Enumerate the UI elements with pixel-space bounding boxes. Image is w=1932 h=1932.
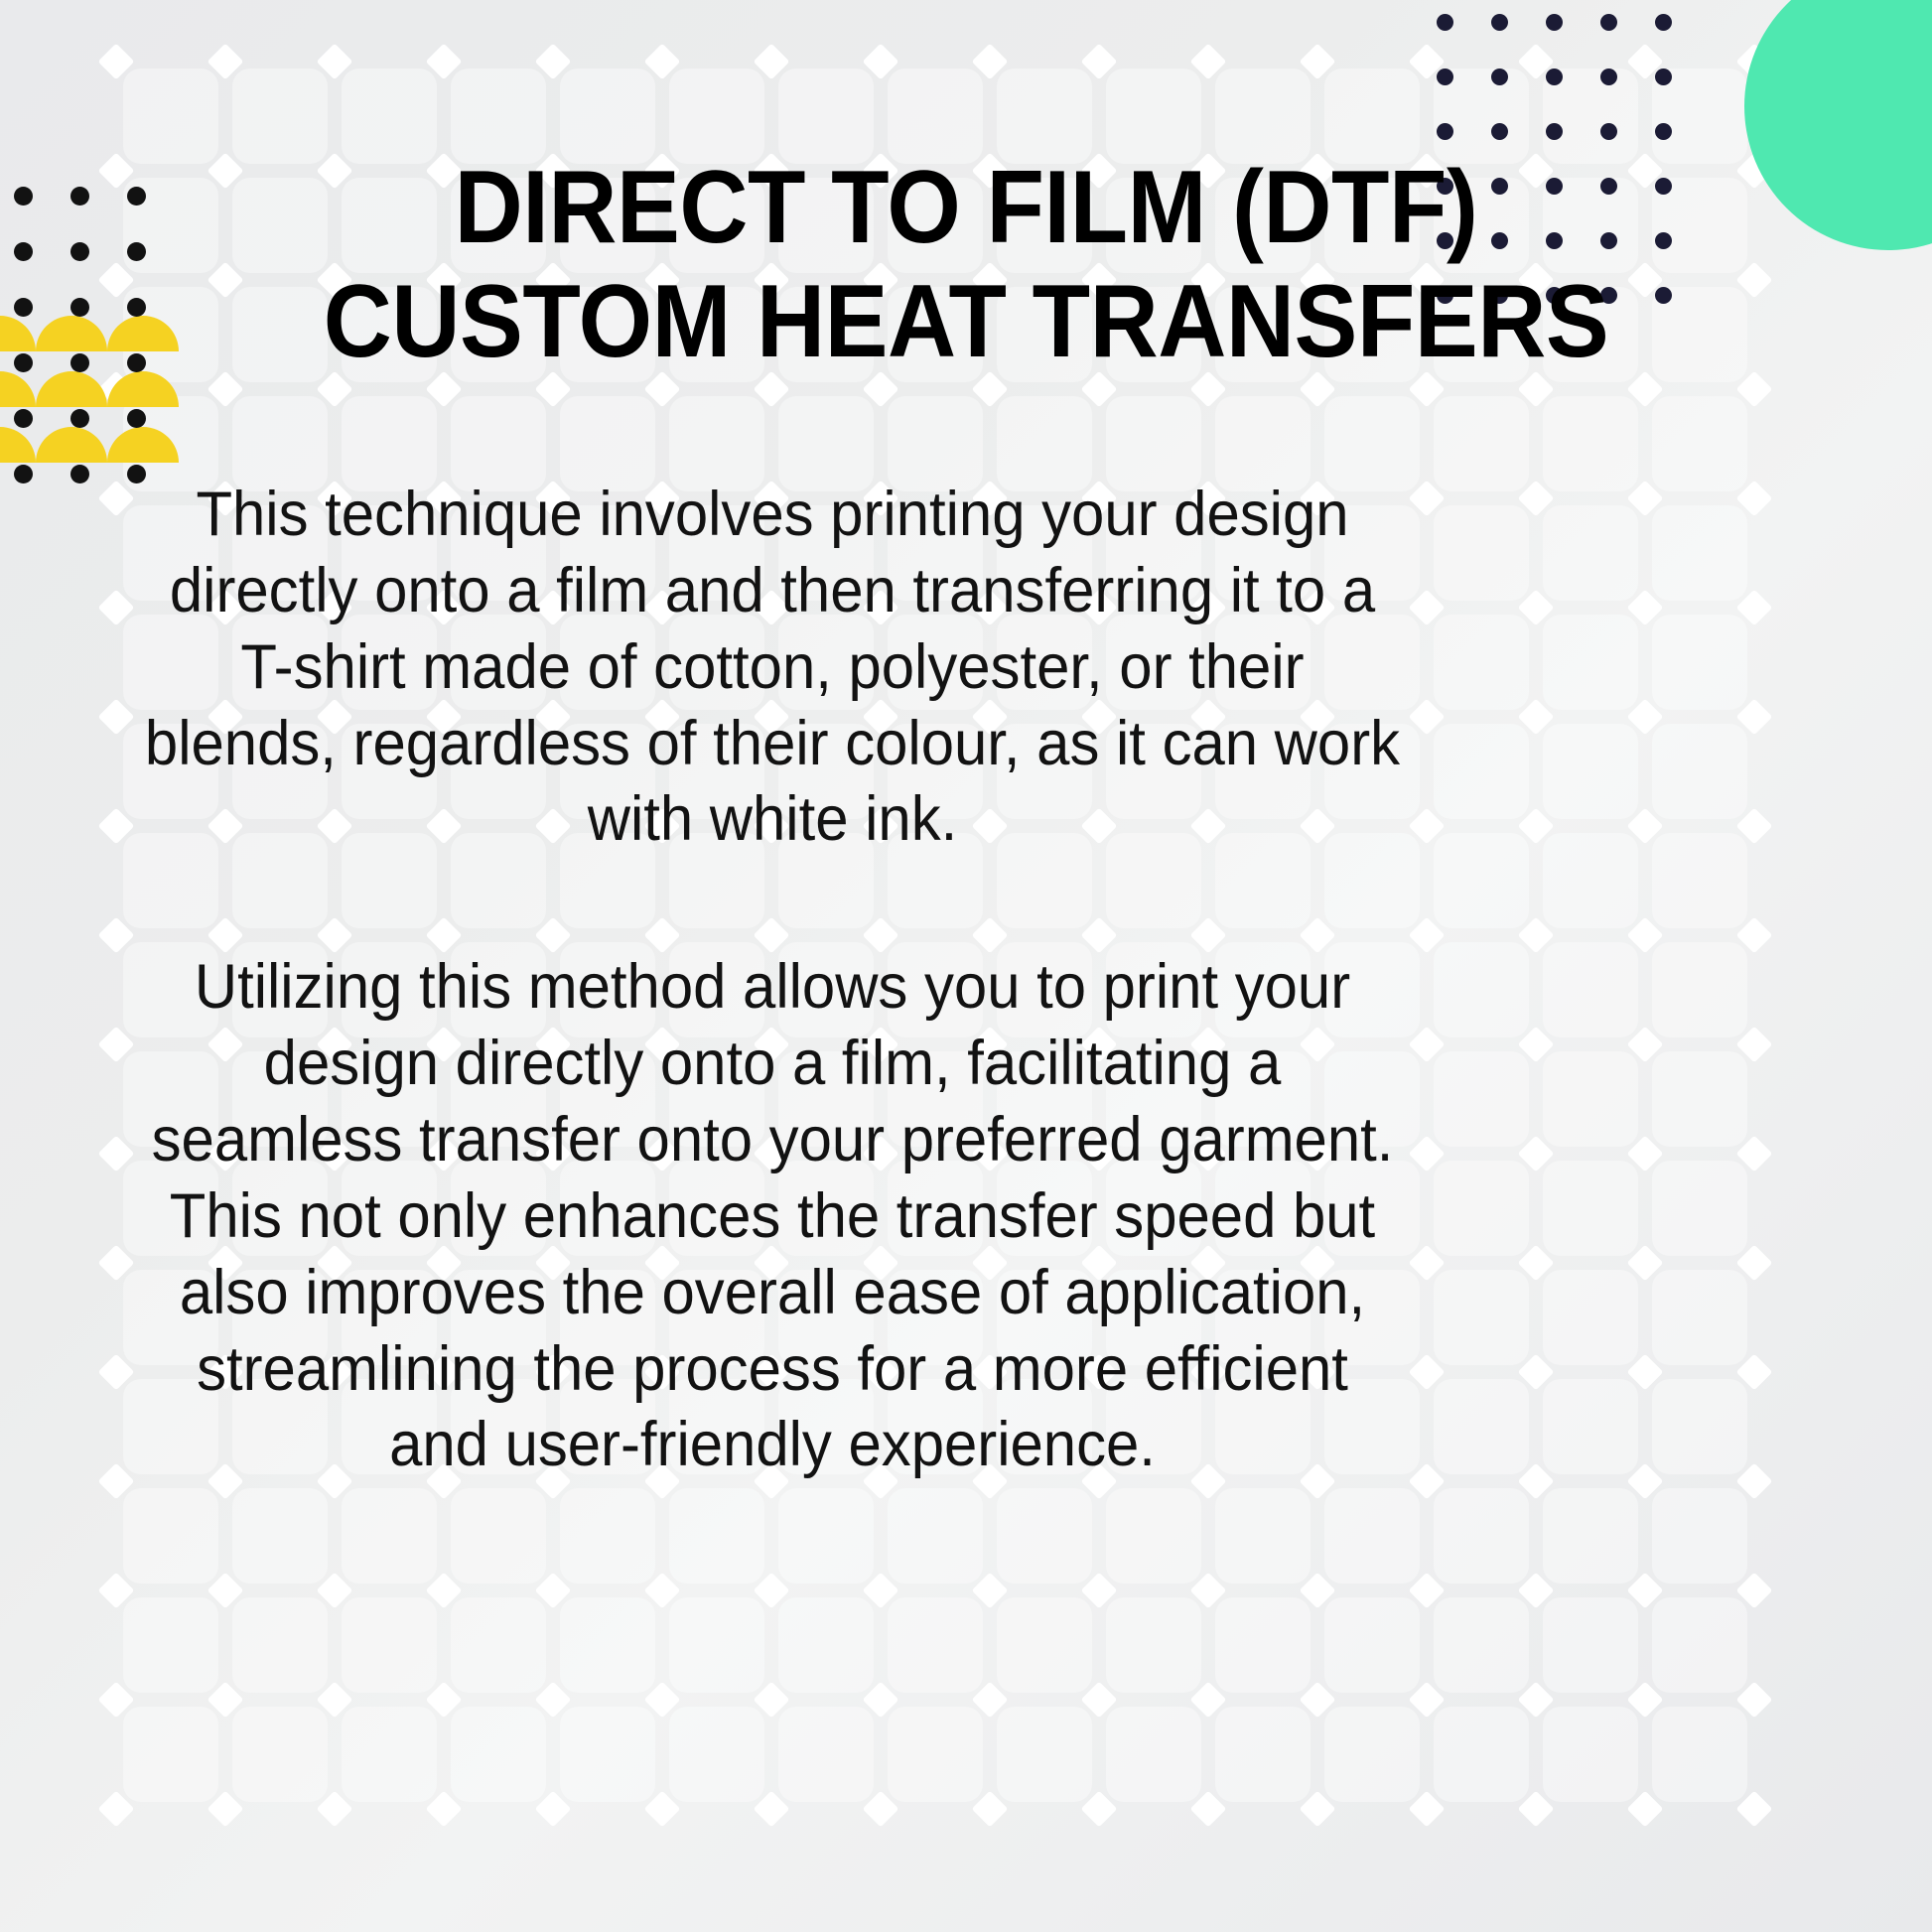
poster-canvas: DIRECT TO FILM (DTF) CUSTOM HEAT TRANSFE… xyxy=(0,0,1932,1932)
poster-content: DIRECT TO FILM (DTF) CUSTOM HEAT TRANSFE… xyxy=(0,0,1932,1932)
page-title: DIRECT TO FILM (DTF) CUSTOM HEAT TRANSFE… xyxy=(235,151,1697,380)
paragraph-1: This technique involves printing your de… xyxy=(141,477,1405,858)
paragraph-2: Utilizing this method allows you to prin… xyxy=(141,949,1405,1483)
body-copy: This technique involves printing your de… xyxy=(107,477,1438,1483)
